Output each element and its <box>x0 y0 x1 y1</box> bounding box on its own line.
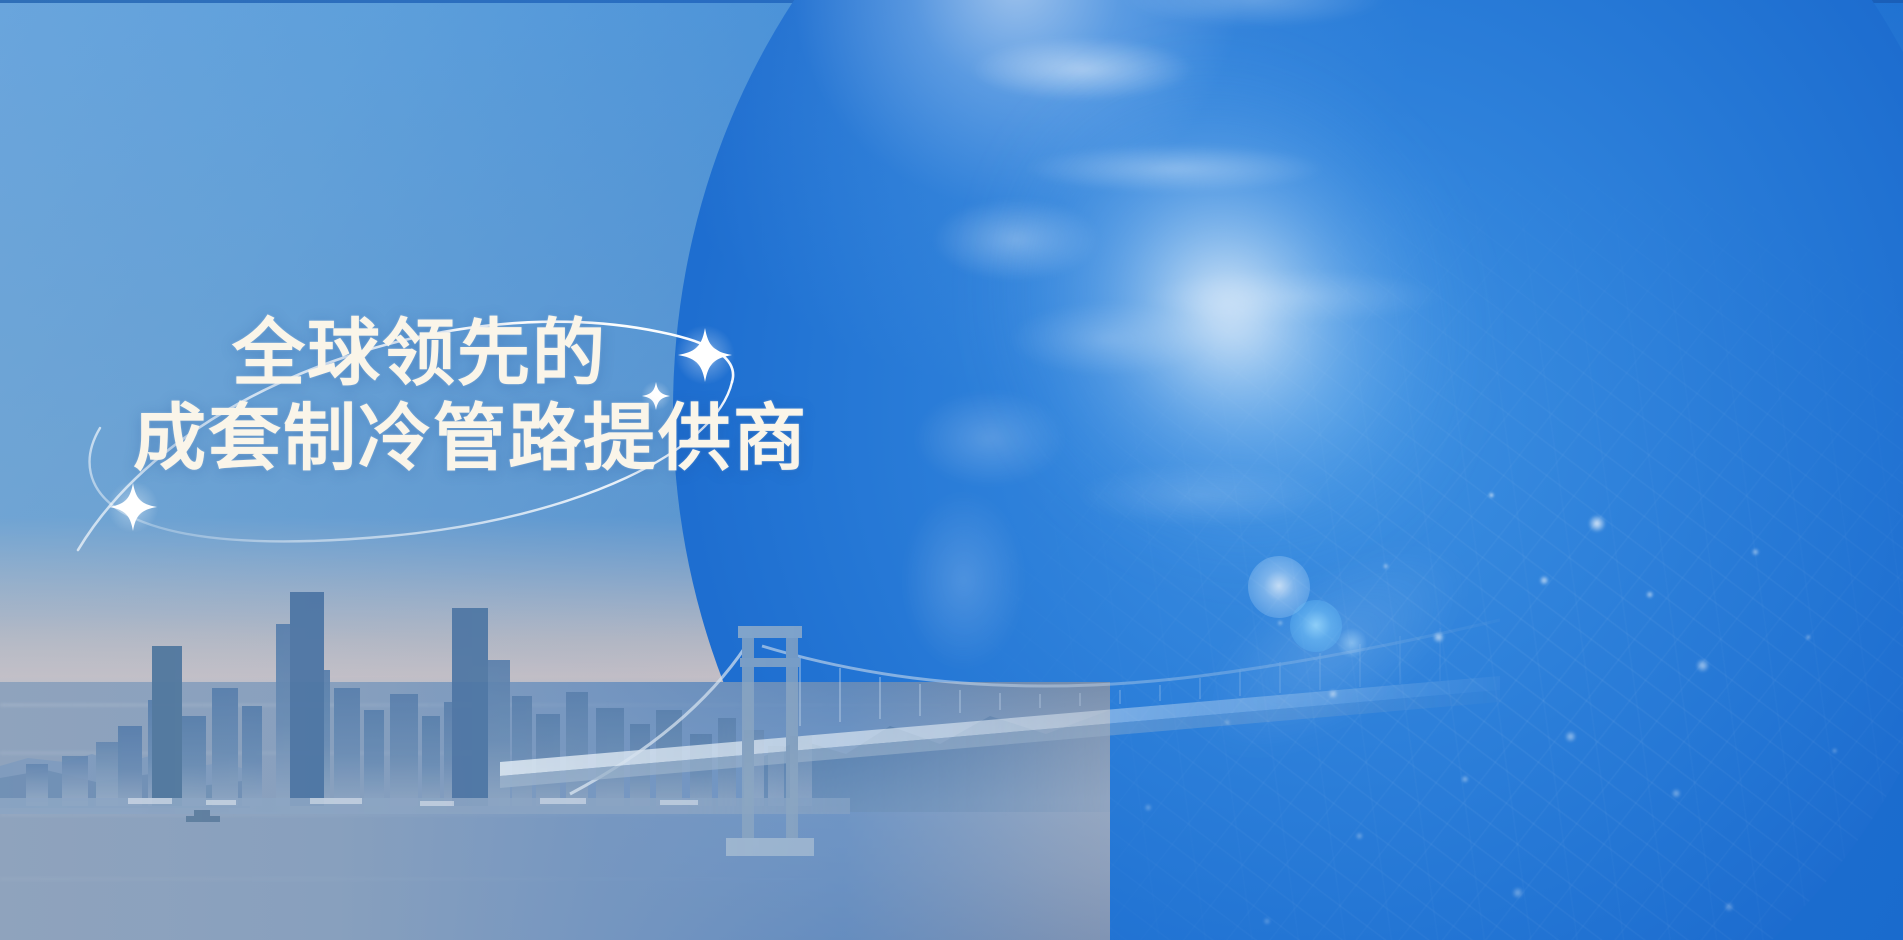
headline-line-1: 全球领先的 <box>133 312 833 397</box>
headline-line-2: 成套制冷管路提供商 <box>133 397 833 482</box>
top-edge-band <box>0 0 1903 3</box>
hero-banner: 全球领先的 成套制冷管路提供商 <box>0 0 1903 940</box>
headline: 全球领先的 成套制冷管路提供商 <box>133 312 833 481</box>
